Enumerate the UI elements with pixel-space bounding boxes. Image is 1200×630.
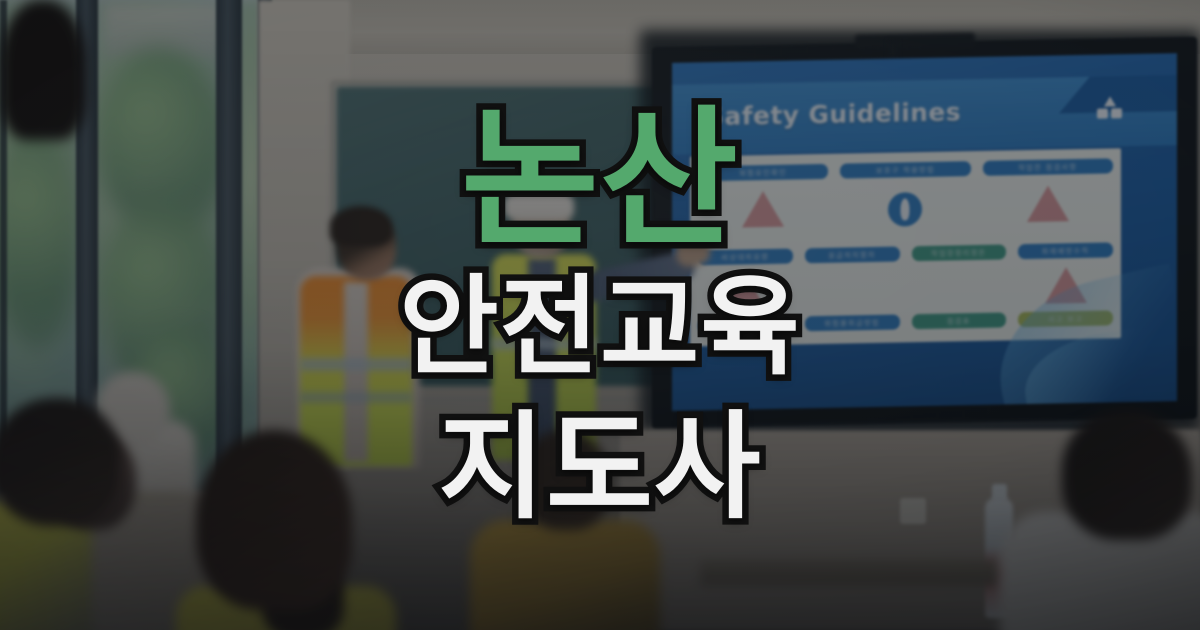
headline-line-topic: 안전교육 <box>399 272 800 382</box>
headline-overlay: 논산 안전교육 지도사 <box>0 0 1200 630</box>
headline-line-qualification: 지도사 <box>438 408 761 526</box>
headline-line-region: 논산 <box>461 103 739 256</box>
thumbnail-card: Safety Guidelines 위험요인확인 보호구 착용방법 작업전 점검… <box>0 0 1200 630</box>
